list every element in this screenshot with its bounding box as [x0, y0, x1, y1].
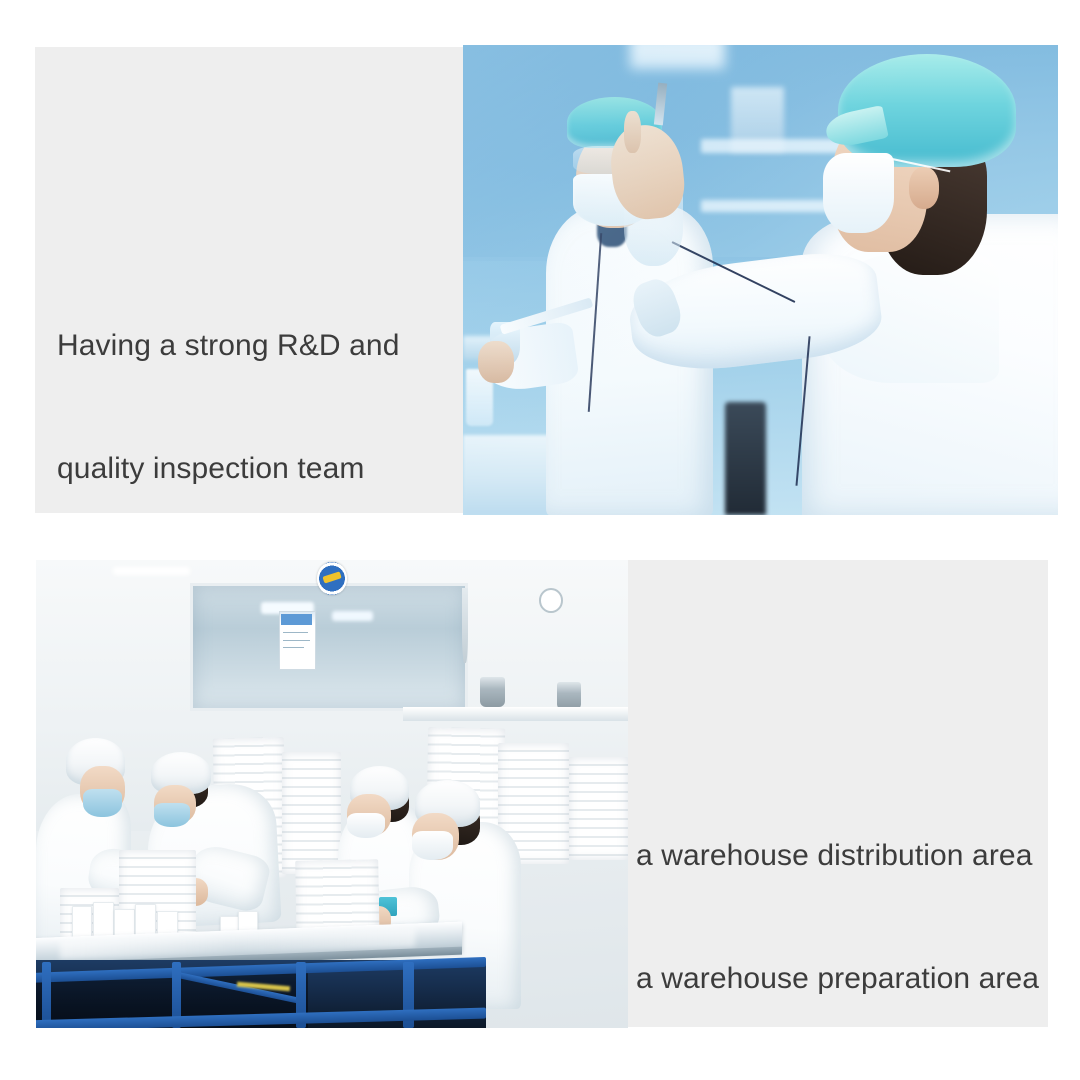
window-light-fixture-secondary	[332, 611, 373, 620]
top-caption: Having a strong R&D and quality inspecti…	[57, 243, 457, 530]
wall-notice-header	[281, 614, 312, 625]
laboratory-rd-quality-inspection-photo	[463, 45, 1058, 515]
steel-container	[480, 677, 505, 707]
wall-notice-line	[283, 640, 309, 641]
warehouse-worker-face-mask	[83, 789, 121, 817]
hanging-hose	[462, 588, 468, 663]
rear-counter	[403, 707, 628, 721]
top-caption-line-2: quality inspection team	[57, 448, 457, 489]
warehouse-packing-distribution-photo	[36, 560, 628, 1028]
warehouse-worker-face-mask	[154, 803, 190, 826]
wall-clock-icon	[539, 588, 563, 613]
warehouse-worker-face-mask	[412, 831, 453, 859]
technician-left-hand	[478, 341, 514, 383]
technician-right-face-mask	[823, 153, 894, 233]
ceiling-light-strip	[113, 567, 190, 574]
technician-right-ear	[909, 167, 939, 209]
warehouse-worker-face-mask	[347, 813, 385, 839]
ceiling-light	[630, 45, 725, 69]
blue-table-frame-leg	[42, 962, 51, 1028]
carton-stack	[569, 757, 628, 860]
lab-equipment-stand	[725, 402, 767, 515]
bottom-caption-line-1: a warehouse distribution area	[636, 835, 1036, 876]
interior-window	[190, 583, 468, 711]
carton-stack	[282, 752, 341, 874]
bottom-caption-line-2: a warehouse preparation area	[636, 958, 1036, 999]
wall-notice-line	[283, 647, 303, 648]
wall-notice-line	[283, 632, 308, 633]
bottom-caption: a warehouse distribution area a warehous…	[636, 753, 1036, 1040]
technician-right-finger	[624, 111, 642, 153]
top-caption-line-1: Having a strong R&D and	[57, 325, 457, 366]
steel-container	[557, 682, 581, 710]
